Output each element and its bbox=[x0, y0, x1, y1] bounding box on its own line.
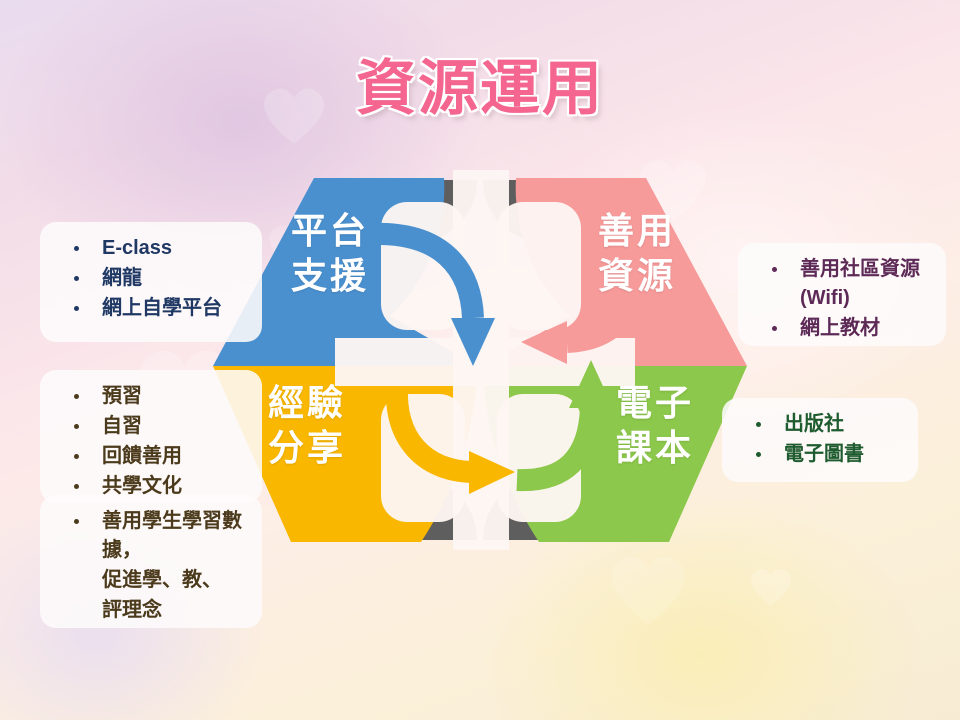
list-item: 善用社區資源(Wifi) bbox=[766, 255, 936, 313]
heart-watermark-icon bbox=[745, 560, 797, 612]
list-item-continuation: 評理念 bbox=[68, 596, 252, 625]
slide-canvas: 資源運用 bbox=[0, 0, 960, 720]
list-item: 網上自學平台 bbox=[68, 294, 252, 323]
callout-list: E-class 網龍 網上自學平台 bbox=[46, 234, 252, 323]
heart-watermark-icon bbox=[600, 540, 696, 636]
resource-cycle-diagram: 平台 支援 善用 資源 經驗 分享 電子 課本 bbox=[185, 170, 775, 550]
callout-list: 善用社區資源(Wifi) 網上教材 bbox=[744, 255, 936, 343]
callout-good-use-resources: 善用社區資源(Wifi) 網上教材 bbox=[738, 243, 946, 346]
list-item: 電子圖書 bbox=[750, 440, 908, 469]
list-item: 網上教材 bbox=[766, 314, 936, 343]
list-item-continuation: 促進學、教、 bbox=[68, 566, 252, 595]
list-item: 網龍 bbox=[68, 264, 252, 293]
list-item: 善用學生學習數據， bbox=[68, 507, 252, 565]
cycle-diagram-svg bbox=[185, 170, 775, 550]
callout-list: 預習 自習 回饋善用 共學文化 bbox=[46, 382, 252, 501]
list-item: 預習 bbox=[68, 382, 252, 411]
list-item: E-class bbox=[68, 234, 252, 263]
callout-list: 出版社 電子圖書 bbox=[728, 410, 908, 469]
list-item: 自習 bbox=[68, 412, 252, 441]
callout-experience-sharing-b: 善用學生學習數據， 促進學、教、 評理念 bbox=[40, 495, 262, 628]
callout-e-textbook: 出版社 電子圖書 bbox=[722, 398, 918, 482]
callout-experience-sharing-a: 預習 自習 回饋善用 共學文化 bbox=[40, 370, 262, 503]
list-item: 回饋善用 bbox=[68, 442, 252, 471]
callout-platform-support: E-class 網龍 網上自學平台 bbox=[40, 222, 262, 342]
page-title: 資源運用 bbox=[0, 40, 960, 127]
list-item: 出版社 bbox=[750, 410, 908, 439]
callout-list: 善用學生學習數據， 促進學、教、 評理念 bbox=[46, 507, 252, 625]
